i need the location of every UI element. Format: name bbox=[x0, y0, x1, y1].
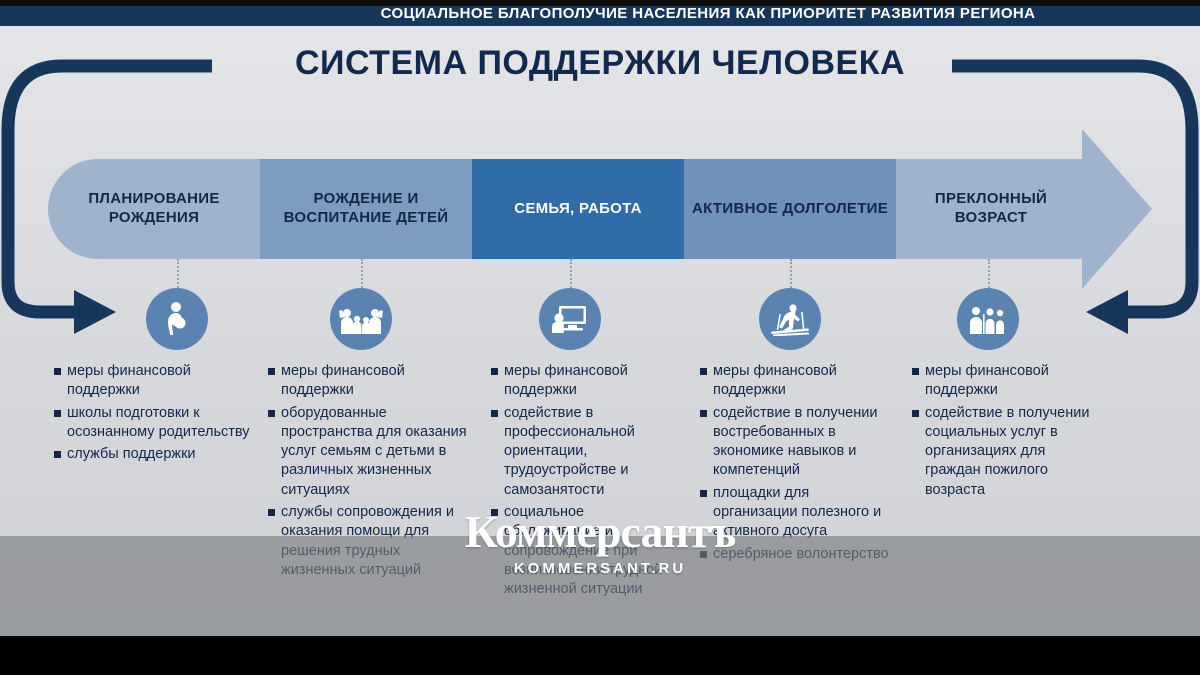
stage-segment-birth[interactable]: РОЖДЕНИЕ И ВОСПИТАНИЕ ДЕТЕЙ bbox=[260, 159, 472, 259]
stage-segment-active-longevity[interactable]: АКТИВНОЕ ДОЛГОЛЕТИЕ bbox=[684, 159, 896, 259]
top-letterbox bbox=[0, 0, 1200, 6]
watermark-brand-text: Коммерсантъ bbox=[465, 506, 736, 557]
stage-segment-family-work[interactable]: СЕМЬЯ, РАБОТА bbox=[472, 159, 684, 259]
list-item: службы поддержки bbox=[54, 445, 254, 464]
connector-active-longevity bbox=[790, 259, 792, 291]
list-item: оборудованные пространства для оказания … bbox=[268, 404, 473, 500]
page-title: СИСТЕМА ПОДДЕРЖКИ ЧЕЛОВЕКА bbox=[0, 44, 1200, 83]
stage-items-planning: меры финансовой поддержки школы подготов… bbox=[54, 362, 254, 467]
stage-items-old-age: меры финансовой поддержки содействие в п… bbox=[912, 362, 1102, 503]
elderly-people-icon bbox=[957, 288, 1019, 350]
stage-segment-old-age[interactable]: ПРЕКЛОННЫЙ ВОЗРАСТ bbox=[896, 159, 1086, 259]
bottom-letterbox bbox=[0, 636, 1200, 675]
list-item: меры финансовой поддержки bbox=[54, 362, 254, 401]
pregnant-woman-icon bbox=[146, 288, 208, 350]
list-item: меры финансовой поддержки bbox=[268, 362, 473, 401]
list-item: меры финансовой поддержки bbox=[912, 362, 1102, 401]
list-item: содействие в получении социальных услуг … bbox=[912, 404, 1102, 500]
connector-planning bbox=[177, 259, 179, 291]
band-arrow-head bbox=[1082, 129, 1152, 289]
connector-family-work bbox=[570, 259, 572, 291]
infographic-root: СОЦИАЛЬНОЕ БЛАГОПОЛУЧИЕ НАСЕЛЕНИЯ КАК ПР… bbox=[0, 0, 1200, 675]
list-item: содействие в получении востребованных в … bbox=[700, 404, 895, 481]
list-item: меры финансовой поддержки bbox=[700, 362, 895, 401]
stage-segment-planning[interactable]: ПЛАНИРОВАНИЕ РОЖДЕНИЯ bbox=[48, 159, 260, 259]
lifecycle-band: ПЛАНИРОВАНИЕ РОЖДЕНИЯ РОЖДЕНИЕ И ВОСПИТА… bbox=[48, 159, 1152, 259]
list-item: содействие в профессиональной ориентации… bbox=[491, 404, 681, 500]
connector-birth bbox=[361, 259, 363, 291]
family-with-children-icon bbox=[330, 288, 392, 350]
list-item: меры финансовой поддержки bbox=[491, 362, 681, 401]
workplace-computer-icon bbox=[539, 288, 601, 350]
skier-icon bbox=[759, 288, 821, 350]
connector-old-age bbox=[988, 259, 990, 291]
watermark-brand: Коммерсантъ KOMMERSANT.RU bbox=[0, 505, 1200, 577]
watermark-site: KOMMERSANT.RU bbox=[0, 560, 1200, 577]
list-item: школы подготовки к осознанному родительс… bbox=[54, 404, 254, 443]
